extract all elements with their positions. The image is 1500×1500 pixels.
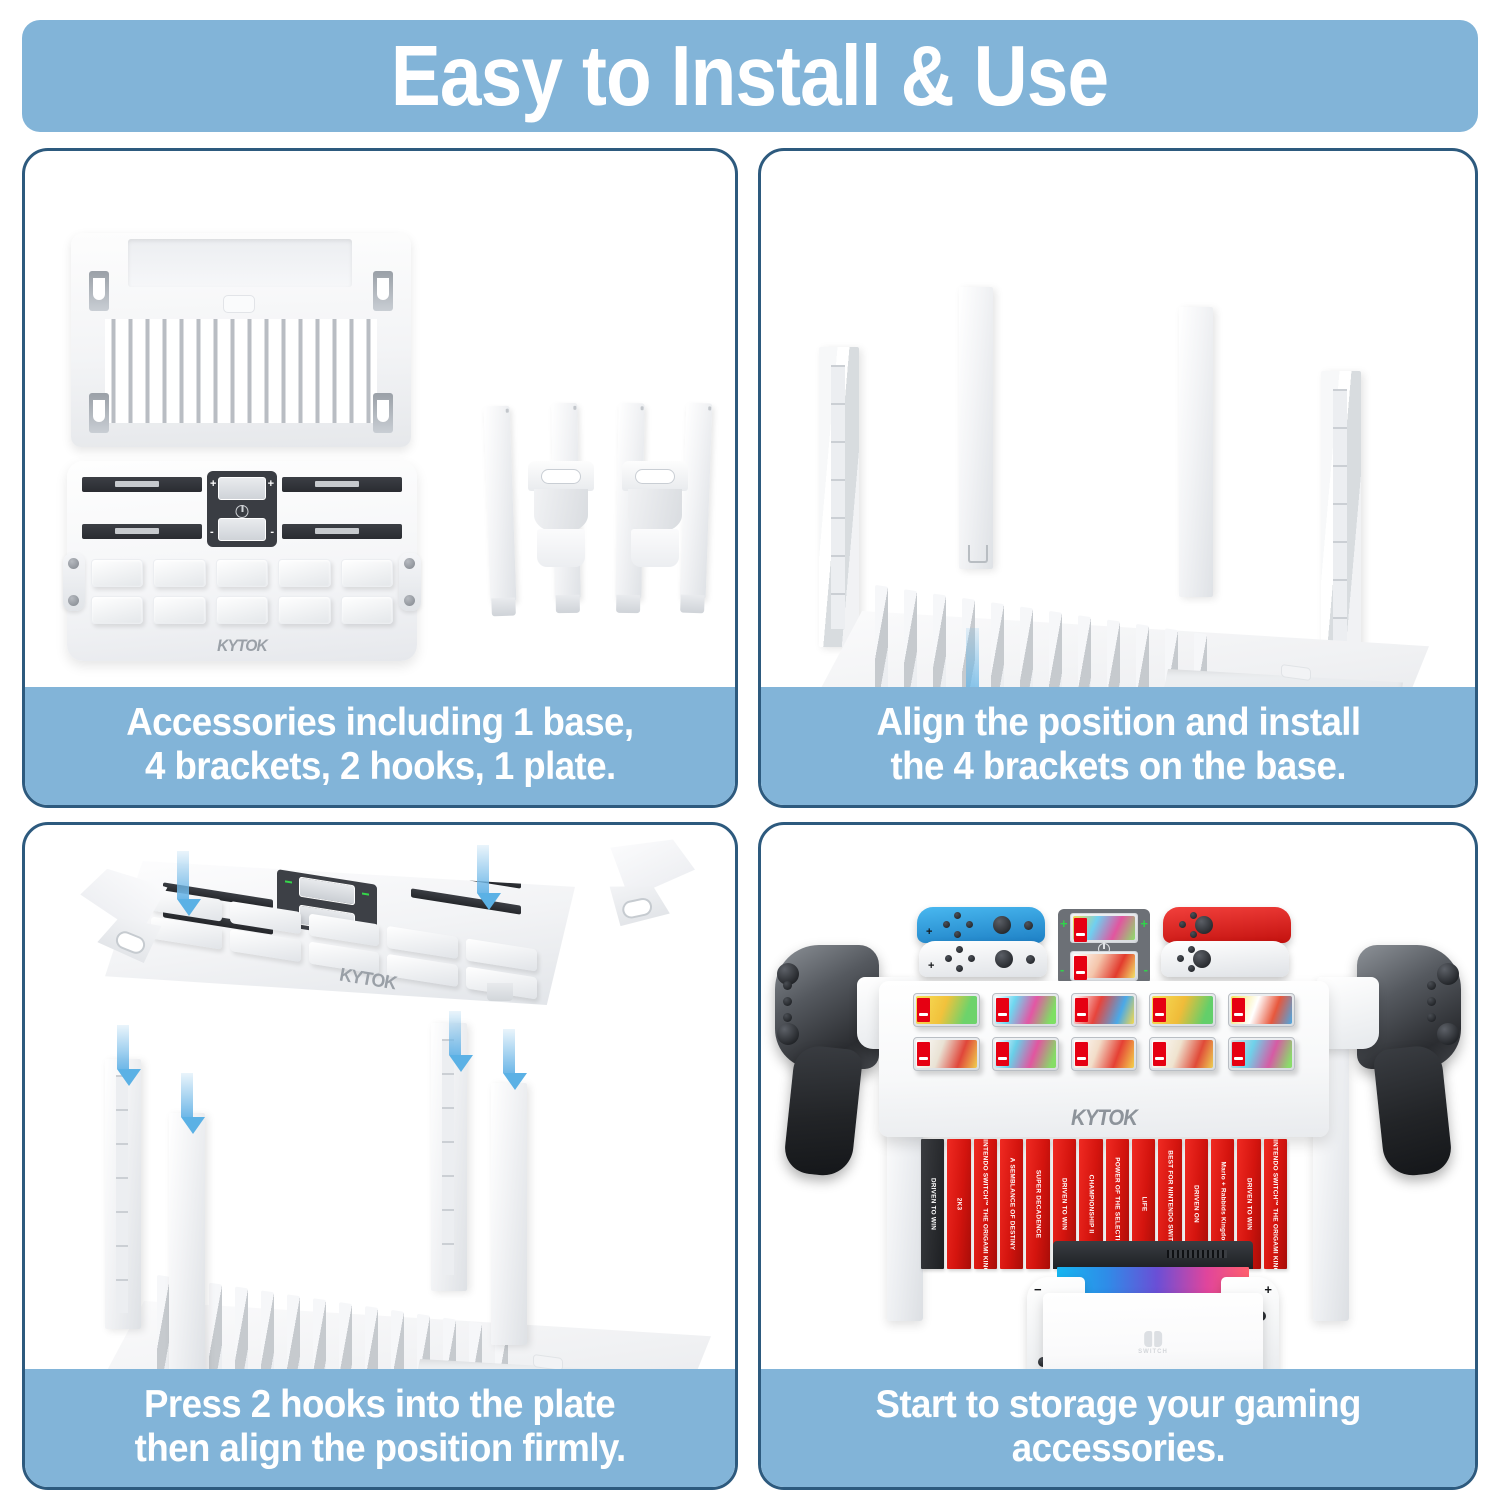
- install-direction-arrow-icon: [117, 1025, 141, 1086]
- game-case: DRIVEN TO WIN: [921, 1139, 944, 1269]
- game-case: 2K3: [947, 1139, 970, 1269]
- hook-part-left: [45, 863, 169, 990]
- plus-indicator: +: [268, 479, 274, 490]
- game-card: [1071, 1037, 1138, 1071]
- game-case-title: CHAMPIONSHIP II: [1087, 1175, 1094, 1234]
- game-case-title: POWER OF THE SELECTION: [1114, 1157, 1121, 1251]
- caption-line-1: Press 2 hooks into the plate: [144, 1383, 615, 1427]
- game-card: [913, 993, 980, 1027]
- game-case-title: 2K3: [956, 1198, 963, 1211]
- game-card-slot: [341, 559, 393, 587]
- bracket-socket-top-right: [373, 271, 393, 311]
- game-card: [913, 1037, 980, 1071]
- base-card-slots: [105, 319, 377, 423]
- led-indicator: [285, 880, 292, 883]
- bracket-part: [484, 406, 517, 603]
- caption-line-1: Start to storage your gaming: [875, 1383, 1360, 1427]
- panel-install-brackets: Align the position and install the 4 bra…: [758, 148, 1478, 808]
- game-card-slot: [278, 596, 330, 624]
- charge-bay-bottom: [218, 518, 266, 541]
- plus-led: +: [1140, 917, 1148, 930]
- game-case-title: DRIVEN TO WIN: [1245, 1178, 1252, 1230]
- charge-bay-top: [218, 477, 266, 500]
- panel-final-assembly: + + + +: [758, 822, 1478, 1490]
- joycon-rail: [82, 524, 202, 539]
- panel-1-caption: Accessories including 1 base, 4 brackets…: [23, 687, 737, 807]
- power-icon: [236, 505, 249, 518]
- install-direction-arrow-icon: [177, 851, 201, 916]
- console-vent: [1167, 1250, 1227, 1258]
- game-card-slot: [387, 954, 458, 987]
- panel-attach-hooks: KYTOK: [22, 822, 738, 1490]
- panel-4-caption: Start to storage your gaming accessories…: [759, 1369, 1477, 1489]
- caption-line-1: Align the position and install: [876, 701, 1360, 745]
- minus-led: -: [1144, 963, 1148, 976]
- game-card-slot: [466, 938, 537, 971]
- game-card-slot: [216, 559, 268, 587]
- bracket-post-left-rear: [105, 1059, 141, 1329]
- panel-3-caption: Press 2 hooks into the plate then align …: [23, 1369, 737, 1489]
- brand-logo: KYTOK: [1071, 1105, 1137, 1131]
- joycon-rail: [411, 862, 521, 888]
- caption-line-1: Accessories including 1 base,: [126, 701, 633, 745]
- game-card-slot: [216, 596, 268, 624]
- game-card: [1228, 993, 1295, 1027]
- game-case-title: Mario + Rabbids Kingdom: [1219, 1162, 1226, 1247]
- charging-panel: + + - -: [207, 471, 277, 547]
- joycon-dock-area: + + + +: [915, 907, 1293, 985]
- minus-indicator: -: [210, 527, 214, 538]
- joycon-white-right: [1161, 941, 1289, 977]
- game-card-slot-grid: [91, 559, 393, 624]
- charge-bay-bottom: [1070, 951, 1138, 981]
- install-direction-arrow-icon: [181, 1073, 205, 1134]
- game-card: [1149, 1037, 1216, 1071]
- console-logo-text: SWITCH: [1138, 1349, 1168, 1355]
- bracket-post-right-front: [491, 1083, 527, 1345]
- joycon-rail: [82, 477, 202, 492]
- game-case-title: A SEMBLANCE OF DESTINY: [1008, 1158, 1015, 1251]
- panel-accessories: + + - -: [22, 148, 738, 808]
- game-case-title: DRIVEN TO WIN: [929, 1178, 936, 1230]
- caption-line-2: the 4 brackets on the base.: [890, 745, 1345, 789]
- hook-part: [622, 461, 688, 567]
- charging-panel: + +: [1058, 909, 1150, 985]
- game-card-slot: [91, 596, 143, 624]
- plate-3d: KYTOK: [105, 861, 575, 1005]
- plus-indicator: +: [210, 479, 216, 490]
- plate-part: + + - -: [67, 461, 417, 661]
- joycon-red: [1163, 907, 1291, 943]
- hook-part: [528, 461, 594, 567]
- bracket-post-left-front: [169, 1113, 205, 1379]
- bracket-post-right-rear: [1179, 307, 1213, 597]
- bracket-socket-top-left: [89, 271, 109, 311]
- game-case-title: DRIVEN TO WIN: [1061, 1178, 1068, 1230]
- caption-line-2: 4 brackets, 2 hooks, 1 plate.: [145, 745, 616, 789]
- led-indicator: [362, 893, 369, 896]
- game-case-title: DRIVEN ON: [1193, 1185, 1200, 1223]
- install-direction-arrow-icon: [477, 845, 501, 910]
- panel-2-caption: Align the position and install the 4 bra…: [759, 687, 1477, 807]
- bracket-socket-bottom-right: [373, 393, 393, 433]
- joycon-blue: +: [917, 907, 1045, 943]
- panel-1-illustration: + + - -: [25, 151, 735, 687]
- game-card-slot: [153, 596, 205, 624]
- game-card-slot: [278, 559, 330, 587]
- joycon-rail: [411, 888, 521, 914]
- charge-bay-top: [299, 877, 355, 906]
- infographic-page: Easy to Install & Use: [0, 0, 1500, 1500]
- install-direction-arrow-icon: [503, 1029, 527, 1090]
- game-case: A SEMBLANCE OF DESTINY: [1000, 1139, 1023, 1269]
- plate-side-peg: [399, 553, 421, 611]
- nintendo-switch-logo-icon: SWITCH: [1138, 1331, 1168, 1355]
- game-card: [992, 993, 1059, 1027]
- page-title: Easy to Install & Use: [391, 34, 1108, 119]
- header-banner: Easy to Install & Use: [22, 20, 1478, 132]
- joycon-rail: [282, 524, 402, 539]
- joycon-rail: [282, 477, 402, 492]
- game-card-slot: [341, 596, 393, 624]
- bracket-post-left-front: [959, 287, 993, 569]
- minus-indicator: -: [270, 527, 274, 538]
- game-case: NINTENDO SWITCH™ THE ORIGAMI KING: [974, 1139, 997, 1269]
- plate-side-peg: [63, 553, 85, 611]
- game-case-title: SUPER DECADENCE: [1035, 1170, 1042, 1238]
- dock-well: [128, 239, 352, 287]
- game-card: [1228, 1037, 1295, 1071]
- plus-led: +: [1060, 917, 1068, 930]
- game-case-title: LIFE: [1140, 1197, 1147, 1212]
- game-card-slot: [153, 559, 205, 587]
- game-card-grid: [913, 993, 1295, 1071]
- joycon-white-left: +: [919, 941, 1047, 977]
- plate-front: KYTOK: [879, 981, 1329, 1137]
- charge-bay-top: [1070, 913, 1138, 943]
- caption-line-2: accessories.: [1011, 1427, 1224, 1471]
- game-card: [1149, 993, 1216, 1027]
- console-top-shell: [1053, 1241, 1253, 1269]
- game-card: [992, 1037, 1059, 1071]
- hook-part-right: [603, 835, 723, 959]
- install-direction-arrow-icon: [449, 1011, 473, 1072]
- caption-line-2: then align the position firmly.: [134, 1427, 625, 1471]
- minus-led: -: [1060, 963, 1064, 976]
- assembled-rack: + + + +: [879, 907, 1329, 1319]
- plate-foot: [167, 999, 193, 1017]
- game-case-title: NINTENDO SWITCH™ THE ORIGAMI KING: [982, 1139, 989, 1269]
- plate-foot: [487, 983, 513, 1001]
- game-card-slot: [91, 559, 143, 587]
- base-part: [71, 233, 411, 447]
- game-card-slot: [230, 929, 301, 962]
- base-nub: [223, 295, 255, 313]
- bracket-socket-bottom-left: [89, 393, 109, 433]
- game-card: [1071, 993, 1138, 1027]
- brand-logo: KYTOK: [217, 636, 267, 656]
- game-card-slot: [387, 926, 458, 959]
